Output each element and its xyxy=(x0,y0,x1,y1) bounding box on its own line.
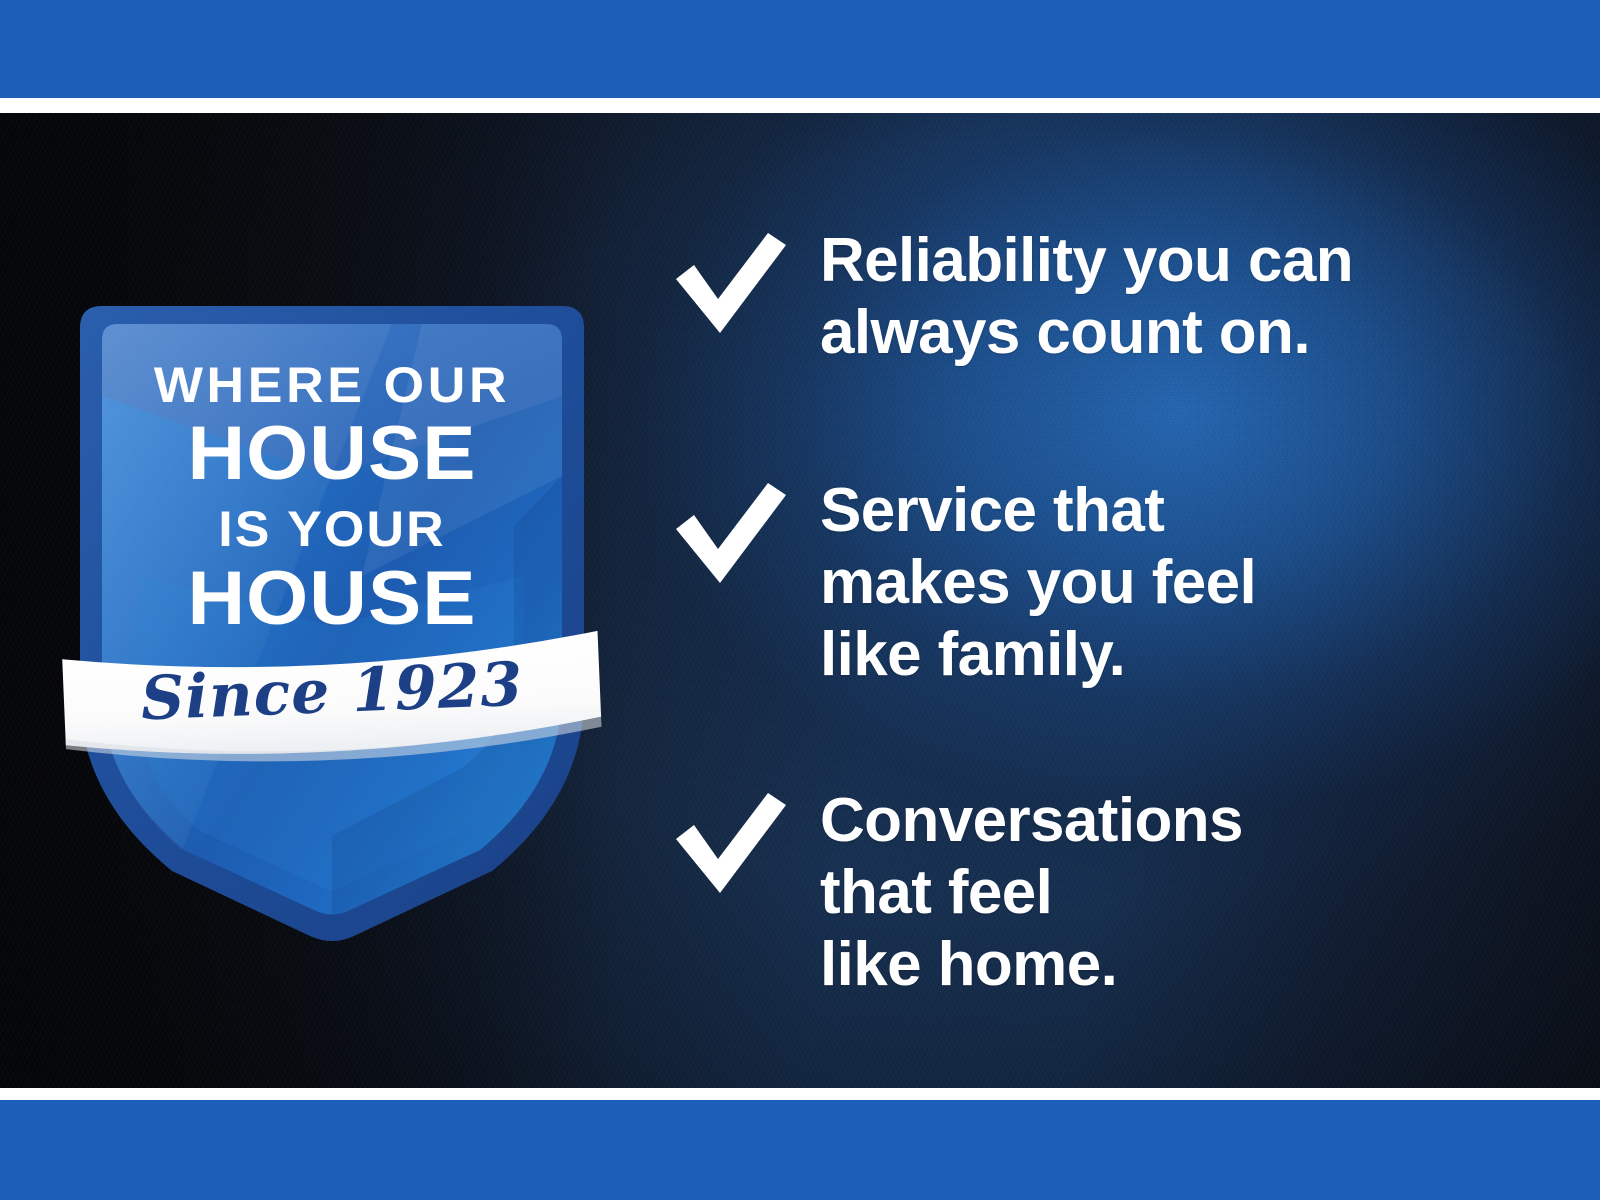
benefit-item-1: Reliability you can always count on. xyxy=(670,225,1353,369)
bottom-white-stripe xyxy=(0,1088,1600,1100)
benefit-item-2: Service that makes you feel like family. xyxy=(670,475,1256,691)
bottom-brand-bar xyxy=(0,1100,1600,1200)
shield-icon xyxy=(62,276,602,946)
top-white-stripe xyxy=(0,98,1600,113)
shield-badge: WHERE OUR HOUSE IS YOUR HOUSE Since 1923 xyxy=(62,276,602,946)
checkmark-icon xyxy=(670,229,788,337)
benefit-text-2: Service that makes you feel like family. xyxy=(820,475,1256,691)
benefits-list: Reliability you can always count on. Ser… xyxy=(670,113,1550,1088)
benefit-text-1: Reliability you can always count on. xyxy=(820,225,1353,369)
promo-graphic: WHERE OUR HOUSE IS YOUR HOUSE Since 1923… xyxy=(0,0,1600,1200)
benefit-text-3: Conversations that feel like home. xyxy=(820,785,1243,1001)
benefit-item-3: Conversations that feel like home. xyxy=(670,785,1243,1001)
top-brand-bar xyxy=(0,0,1600,98)
main-stage: WHERE OUR HOUSE IS YOUR HOUSE Since 1923… xyxy=(0,113,1600,1088)
checkmark-icon xyxy=(670,479,788,587)
checkmark-icon xyxy=(670,789,788,897)
